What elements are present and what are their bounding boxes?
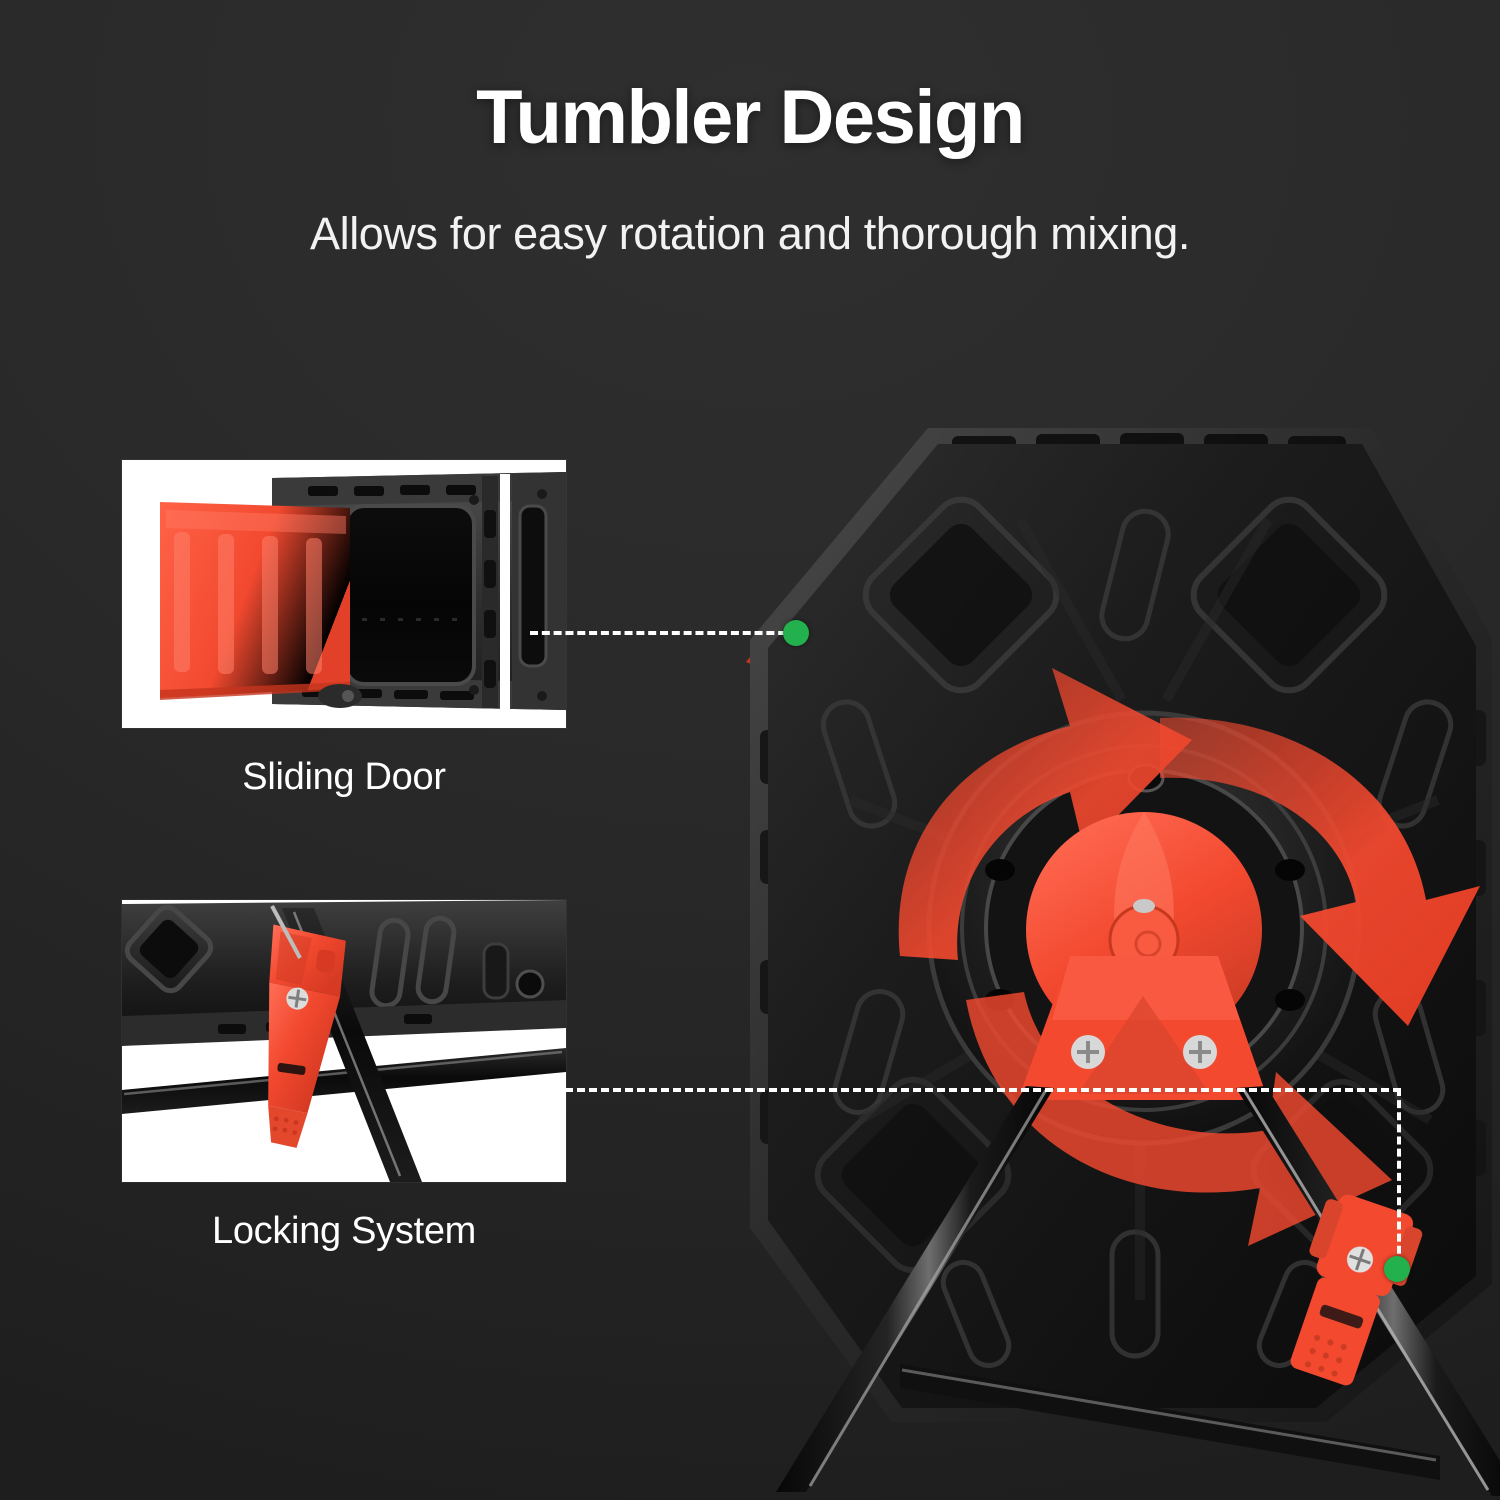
inset-sliding-door: Sliding Door [122,460,566,728]
product-image-compost-tumbler [600,400,1500,1500]
page-subtitle: Allows for easy rotation and thorough mi… [0,208,1500,260]
inset-locking-system-caption: Locking System [122,1210,566,1253]
callout-line-locking-system-horizontal [565,1088,1401,1092]
page-title: Tumbler Design [0,78,1500,158]
callout-line-sliding-door [530,631,798,635]
inset-locking-system: Locking System [122,900,566,1182]
product-feature-banner: Tumbler Design Allows for easy rotation … [0,0,1500,1500]
inset-locking-system-photo [122,900,566,1182]
callout-marker-locking-system-green-dot [1384,1256,1410,1282]
callout-line-locking-system-vertical [1397,1088,1401,1278]
inset-sliding-door-photo [122,460,566,728]
inset-sliding-door-caption: Sliding Door [122,756,566,799]
callout-marker-sliding-door-green-dot [783,620,809,646]
